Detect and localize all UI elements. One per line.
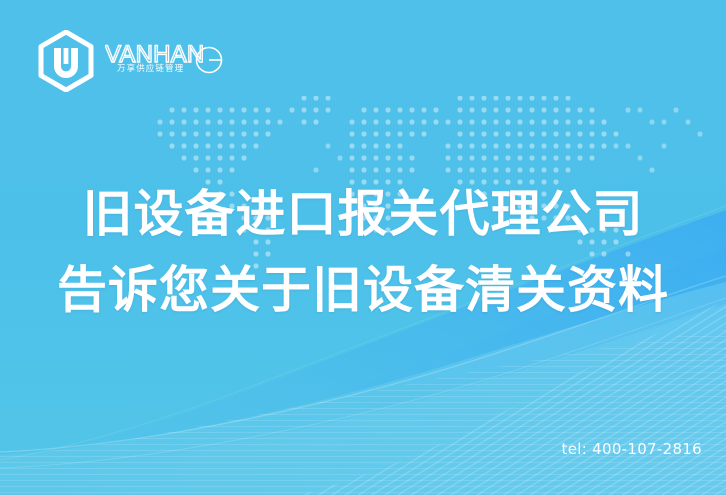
vanhang-wordmark: VANHAN: [105, 38, 223, 84]
headline-line-1: 旧设备进口报关代理公司: [0, 176, 726, 252]
brand-logo[interactable]: VANHAN 万享供应链管理: [36, 30, 223, 92]
contact-phone[interactable]: tel: 400-107-2816: [562, 440, 702, 458]
logo-chinese-name: 万享供应链管理: [117, 65, 184, 74]
hexagon-shield-u-icon: [36, 30, 96, 92]
headline-line-2: 告诉您关于旧设备清关资料: [0, 252, 726, 328]
promo-banner: VANHAN 万享供应链管理 旧设备进口报关代理公司 告诉您关于旧设备清关资料 …: [0, 0, 726, 495]
page-title: 旧设备进口报关代理公司 告诉您关于旧设备清关资料: [0, 176, 726, 328]
logo-wordmark-group: VANHAN 万享供应链管理: [105, 38, 223, 84]
